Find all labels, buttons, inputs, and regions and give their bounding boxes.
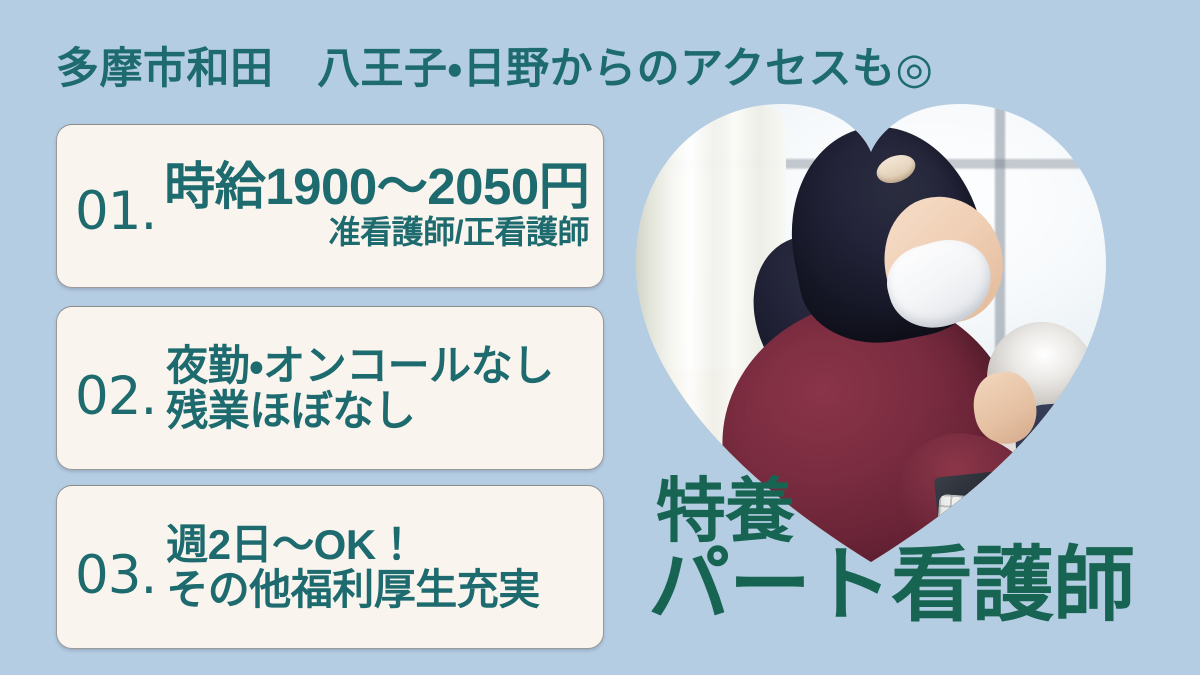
feature-card-01-number: 01.	[75, 185, 156, 238]
feature-card-03-number: 03.	[75, 549, 156, 602]
feature-card-02-line-1: 夜勤・オンコールなし	[166, 343, 589, 388]
page-title: 多摩市和田 八王子・日野からのアクセスも◎	[56, 38, 1036, 100]
feature-card-01-body: 時給1900〜2050円 准看護師/正看護師	[156, 161, 589, 250]
feature-card-02-number: 02.	[75, 370, 156, 423]
feature-card-01-sub-text: 准看護師/正看護師	[164, 215, 589, 250]
poster-canvas: 多摩市和田 八王子・日野からのアクセスも◎ 01. 時給1900〜2050円 准…	[0, 0, 1200, 675]
feature-card-02-body: 夜勤・オンコールなし 残業ほぼなし	[156, 343, 589, 434]
feature-card-03-line-2: その他福利厚生充実	[166, 567, 589, 612]
job-title-caption-line-1: 特養	[648, 478, 1196, 545]
job-title-caption: 特養 パート看護師	[648, 478, 1196, 626]
feature-card-02: 02. 夜勤・オンコールなし 残業ほぼなし	[56, 306, 604, 470]
job-title-caption-line-2: パート看護師	[648, 547, 1196, 626]
feature-card-03-body: 週2日〜OK！ その他福利厚生充実	[156, 522, 589, 613]
feature-card-01: 01. 時給1900〜2050円 准看護師/正看護師	[56, 124, 604, 288]
feature-card-03: 03. 週2日〜OK！ その他福利厚生充実	[56, 485, 604, 649]
feature-card-01-main-text: 時給1900〜2050円	[164, 161, 589, 213]
feature-card-02-line-2: 残業ほぼなし	[166, 388, 589, 433]
feature-card-03-line-1: 週2日〜OK！	[166, 522, 589, 567]
